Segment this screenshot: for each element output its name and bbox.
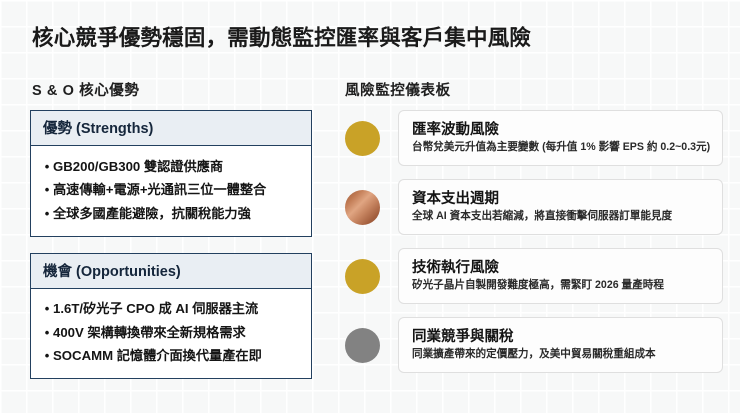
risk-card: 匯率波動風險 台幣兌美元升值為主要變數 (每升值 1% 影響 EPS 約 0.2… [398,110,723,166]
list-item: • 高速傳輸+電源+光通訊三位一體整合 [41,179,301,203]
risk-row: 資本支出週期 全球 AI 資本支出若縮減，將直接衝擊伺服器訂單能見度 [345,179,723,235]
list-item-label: GB200/GB300 雙認證供應商 [53,159,301,176]
list-item: • 400V 架構轉換帶來全新規格需求 [41,321,301,345]
risk-status-dot-icon [345,259,380,294]
risk-card: 資本支出週期 全球 AI 資本支出若縮減，將直接衝擊伺服器訂單能見度 [398,179,723,235]
right-column-header: 風險監控儀表板 [345,79,451,100]
list-item-label: 高速傳輸+電源+光通訊三位一體整合 [53,182,301,199]
bullet-icon: • [41,206,53,222]
risk-card-title: 匯率波動風險 [412,122,711,139]
list-item-label: 400V 架構轉換帶來全新規格需求 [53,325,301,342]
risk-card-description: 矽光子晶片自製開發難度極高，需緊盯 2026 量產時程 [412,279,711,292]
strengths-box-body: • GB200/GB300 雙認證供應商 • 高速傳輸+電源+光通訊三位一體整合… [31,146,311,236]
risk-card-title: 技術執行風險 [412,260,711,277]
list-item-label: SOCAMM 記憶體介面換代量產在即 [53,348,301,365]
strengths-box-header: 優勢 (Strengths) [31,111,311,146]
risk-status-dot-icon [345,328,380,363]
risk-row: 技術執行風險 矽光子晶片自製開發難度極高，需緊盯 2026 量產時程 [345,248,723,304]
opportunities-box-body: • 1.6T/矽光子 CPO 成 AI 伺服器主流 • 400V 架構轉換帶來全… [31,289,311,379]
bullet-icon: • [41,182,53,198]
risk-card-description: 全球 AI 資本支出若縮減，將直接衝擊伺服器訂單能見度 [412,210,711,223]
risk-card-description: 同業擴產帶來的定價壓力，及美中貿易關稅重組成本 [412,348,711,361]
risk-row: 匯率波動風險 台幣兌美元升值為主要變數 (每升值 1% 影響 EPS 約 0.2… [345,110,723,166]
list-item-label: 全球多國產能避險，抗關稅能力強 [53,206,301,223]
risk-status-dot-icon [345,190,380,225]
slide-root: 核心競爭優勢穩固，需動態監控匯率與客戶集中風險 S & O 核心優勢 風險監控儀… [0,0,740,413]
risk-status-dot-icon [345,121,380,156]
risk-card: 同業競爭與關稅 同業擴產帶來的定價壓力，及美中貿易關稅重組成本 [398,317,723,373]
bullet-icon: • [41,159,53,175]
risk-card-description: 台幣兌美元升值為主要變數 (每升值 1% 影響 EPS 約 0.2~0.3元) [412,141,711,154]
opportunities-box-header: 機會 (Opportunities) [31,254,311,289]
page-title: 核心競爭優勢穩固，需動態監控匯率與客戶集中風險 [32,21,531,52]
list-item: • 1.6T/矽光子 CPO 成 AI 伺服器主流 [41,298,301,322]
bullet-icon: • [41,301,53,317]
risk-dashboard: 匯率波動風險 台幣兌美元升值為主要變數 (每升值 1% 影響 EPS 約 0.2… [345,110,723,386]
list-item: • GB200/GB300 雙認證供應商 [41,155,301,179]
risk-card: 技術執行風險 矽光子晶片自製開發難度極高，需緊盯 2026 量產時程 [398,248,723,304]
left-column-header: S & O 核心優勢 [32,79,140,100]
bullet-icon: • [41,348,53,364]
risk-card-title: 同業競爭與關稅 [412,329,711,346]
risk-row: 同業競爭與關稅 同業擴產帶來的定價壓力，及美中貿易關稅重組成本 [345,317,723,373]
list-item: • 全球多國產能避險，抗關稅能力強 [41,202,301,226]
swot-column: 優勢 (Strengths) • GB200/GB300 雙認證供應商 • 高速… [30,110,312,395]
list-item-label: 1.6T/矽光子 CPO 成 AI 伺服器主流 [53,301,301,318]
opportunities-box: 機會 (Opportunities) • 1.6T/矽光子 CPO 成 AI 伺… [30,253,312,380]
strengths-box: 優勢 (Strengths) • GB200/GB300 雙認證供應商 • 高速… [30,110,312,237]
bullet-icon: • [41,325,53,341]
list-item: • SOCAMM 記憶體介面換代量產在即 [41,345,301,369]
risk-card-title: 資本支出週期 [412,191,711,208]
